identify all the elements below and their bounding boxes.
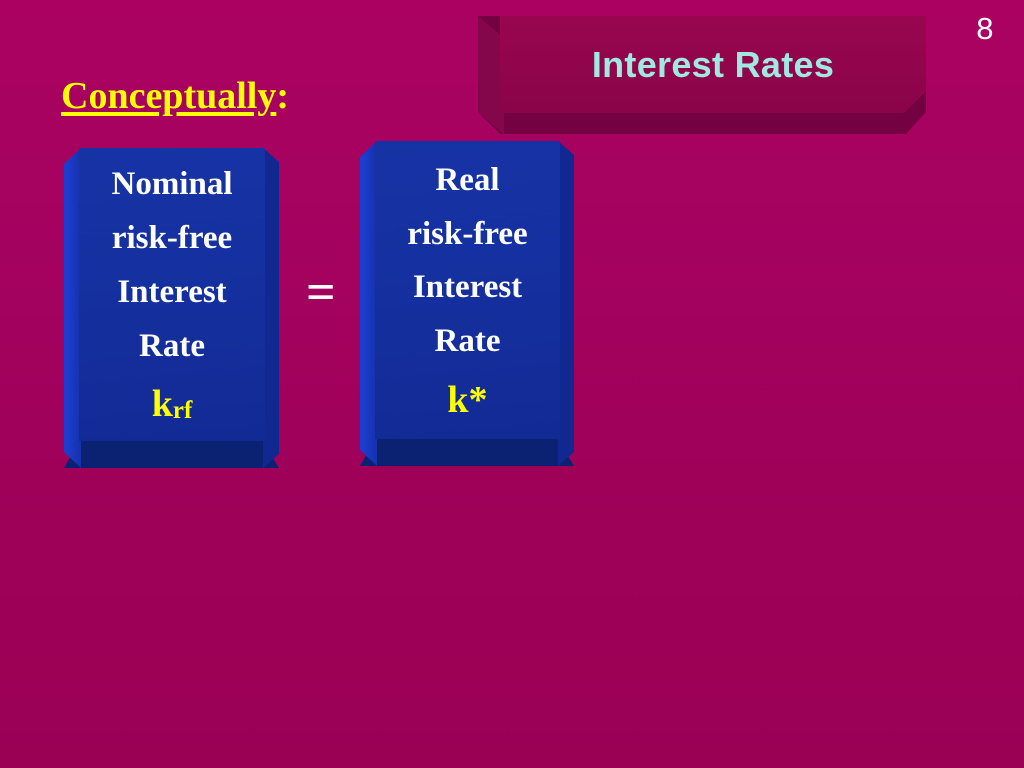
nominal-rate-line-3: Interest <box>117 266 226 320</box>
nominal-rate-box-label: Nominal risk-free Interest Rate krf <box>79 148 265 441</box>
conceptually-heading-underlined: Conceptually <box>61 75 276 117</box>
nominal-rate-line-2: risk-free <box>112 212 232 266</box>
page-number: 8 <box>976 13 994 44</box>
conceptually-heading-colon: : <box>276 75 289 117</box>
real-rate-box-label: Real risk-free Interest Rate k* <box>375 141 560 439</box>
nominal-rate-symbol-base: k <box>152 383 173 425</box>
nominal-rate-line-4: Rate <box>139 320 205 374</box>
conceptually-heading: Conceptually: <box>61 76 289 117</box>
title-plaque: Interest Rates <box>478 16 926 134</box>
real-rate-line-4: Rate <box>435 315 501 369</box>
real-rate-box: Real risk-free Interest Rate k* <box>360 141 574 466</box>
nominal-rate-symbol: krf <box>152 379 193 430</box>
real-rate-line-1: Real <box>435 154 499 208</box>
nominal-rate-box-bottom-face <box>64 438 279 468</box>
nominal-rate-box: Nominal risk-free Interest Rate krf <box>64 148 279 468</box>
slide-canvas: 8 Interest Rates Conceptually: Nominal r… <box>0 0 1024 768</box>
real-rate-box-right-face <box>558 141 574 466</box>
real-rate-symbol: k* <box>447 375 487 426</box>
nominal-rate-line-1: Nominal <box>111 158 232 212</box>
nominal-rate-symbol-subscript: rf <box>173 397 192 424</box>
real-rate-line-3: Interest <box>413 261 522 315</box>
real-rate-symbol-base: k* <box>447 379 487 421</box>
nominal-rate-box-right-face <box>263 148 279 468</box>
real-rate-line-2: risk-free <box>407 208 527 262</box>
slide-title: Interest Rates <box>500 16 926 113</box>
equals-sign: = <box>306 267 336 319</box>
real-rate-box-bottom-face <box>360 436 574 466</box>
